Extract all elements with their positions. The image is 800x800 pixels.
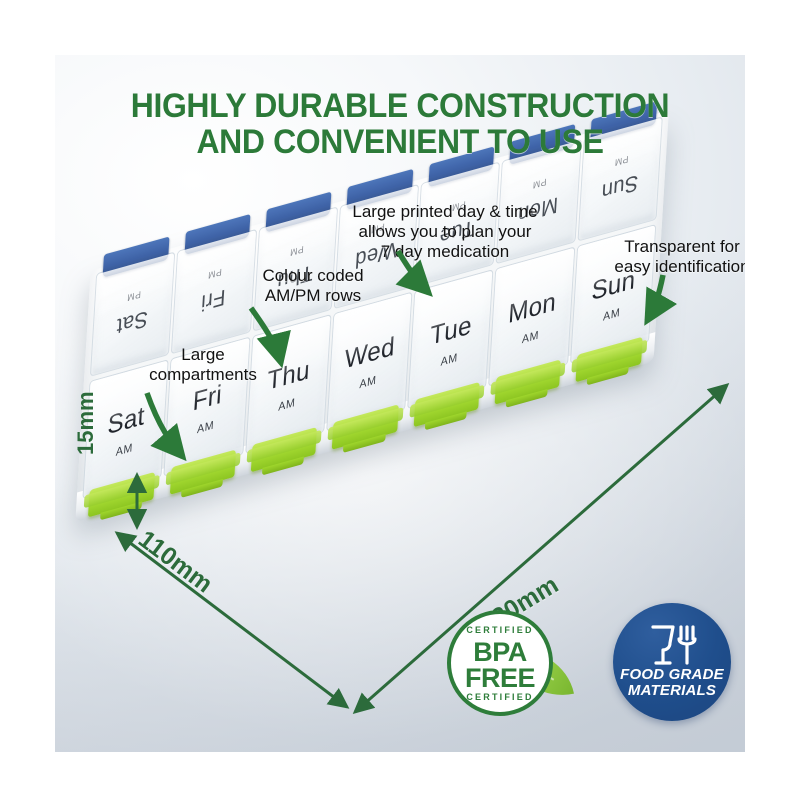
latch-tab-green[interactable] [170, 449, 237, 494]
callout-line: AM/PM rows [203, 286, 423, 306]
dimension-label-height: 15mm [73, 391, 99, 455]
product-photo-panel: HIGHLY DURABLE CONSTRUCTION AND CONVENIE… [55, 55, 745, 752]
callout-line: 7 day medication [305, 242, 585, 262]
bpa-badge-text: BPA FREE [451, 640, 549, 692]
callout-line: Colour coded [203, 266, 423, 286]
headline-line-1: HIGHLY DURABLE CONSTRUCTION [76, 88, 725, 124]
food-line-2: MATERIALS [613, 683, 731, 699]
headline-line-2: AND CONVENIENT TO USE [76, 124, 725, 160]
callout-large-printed-day-time: Large printed day & time allows you to p… [305, 202, 585, 262]
food-grade-badge: FOOD GRADE MATERIALS [613, 603, 731, 721]
callout-line: Large [113, 345, 293, 365]
food-grade-text: FOOD GRADE MATERIALS [613, 667, 731, 699]
latch-tab-green[interactable] [332, 404, 399, 449]
page-title: HIGHLY DURABLE CONSTRUCTION AND CONVENIE… [76, 88, 725, 160]
callout-line: easy identification [577, 257, 745, 277]
latch-tab-green[interactable] [576, 337, 643, 382]
bpa-badge-circle: CERTIFIED BPA FREE CERTIFIED [447, 610, 553, 716]
callout-line: Transparent for [577, 237, 745, 257]
callout-colour-coded-rows: Colour coded AM/PM rows [203, 266, 423, 306]
callout-line: Large printed day & time [305, 202, 585, 222]
food-line-1: FOOD GRADE [613, 667, 731, 683]
compartment-am[interactable]: Wed AM [326, 291, 413, 431]
compartment-am[interactable]: Mon AM [488, 246, 575, 386]
callout-transparent: Transparent for easy identification [577, 237, 745, 277]
bpa-line-2: FREE [451, 666, 549, 692]
bpa-certified-bottom: CERTIFIED [451, 692, 549, 702]
bpa-free-badge: CERTIFIED BPA FREE CERTIFIED [447, 610, 557, 720]
callout-large-compartments: Large compartments [113, 345, 293, 385]
latch-tab-green[interactable] [88, 472, 155, 517]
bpa-certified-top: CERTIFIED [451, 625, 549, 635]
latch-tab-green[interactable] [413, 382, 480, 427]
callout-line: allows you to plan your [305, 222, 585, 242]
callout-line: compartments [113, 365, 293, 385]
infographic-canvas: HIGHLY DURABLE CONSTRUCTION AND CONVENIE… [0, 0, 800, 800]
latch-tab-green[interactable] [251, 427, 318, 472]
glass-and-fork-icon [647, 623, 697, 669]
latch-tab-green[interactable] [494, 359, 561, 404]
